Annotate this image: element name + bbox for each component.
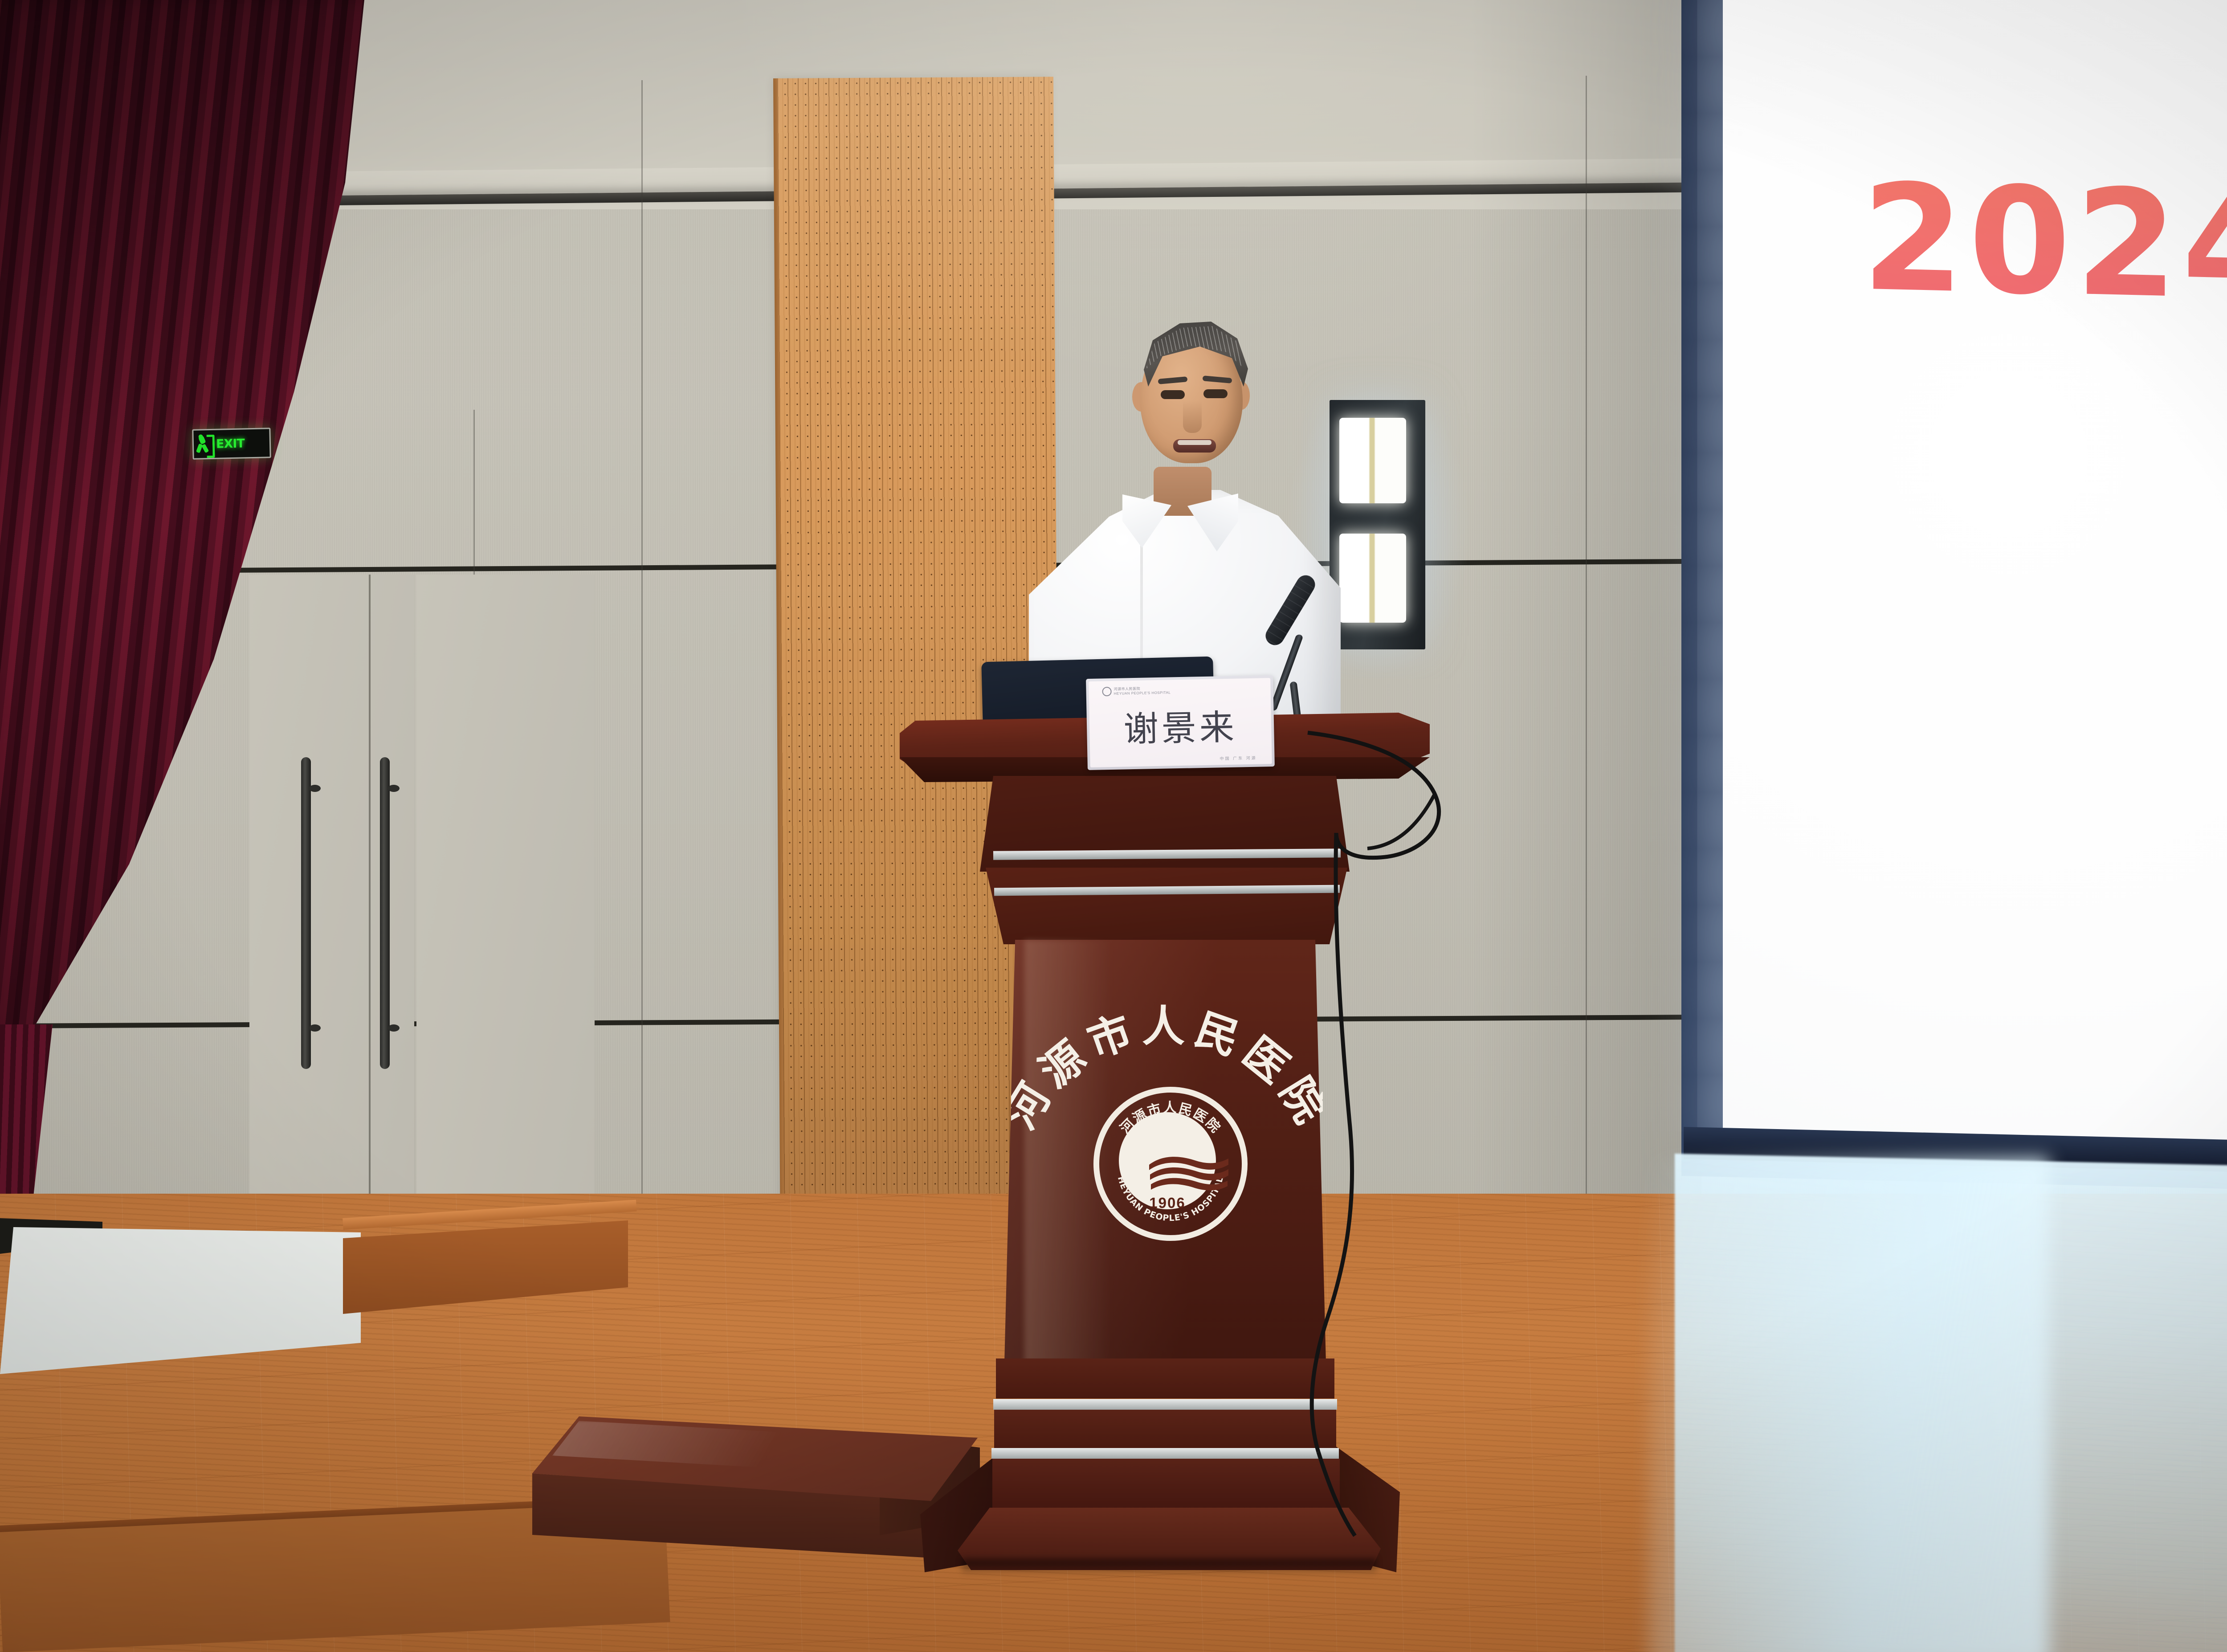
cable-drop	[1312, 833, 1352, 1452]
cable-floor-run	[1318, 1452, 1355, 1536]
conference-hall-photo: EXIT 2024	[0, 0, 2227, 1652]
cable-loop	[1308, 733, 1439, 858]
microphone-cable	[0, 0, 2227, 1652]
